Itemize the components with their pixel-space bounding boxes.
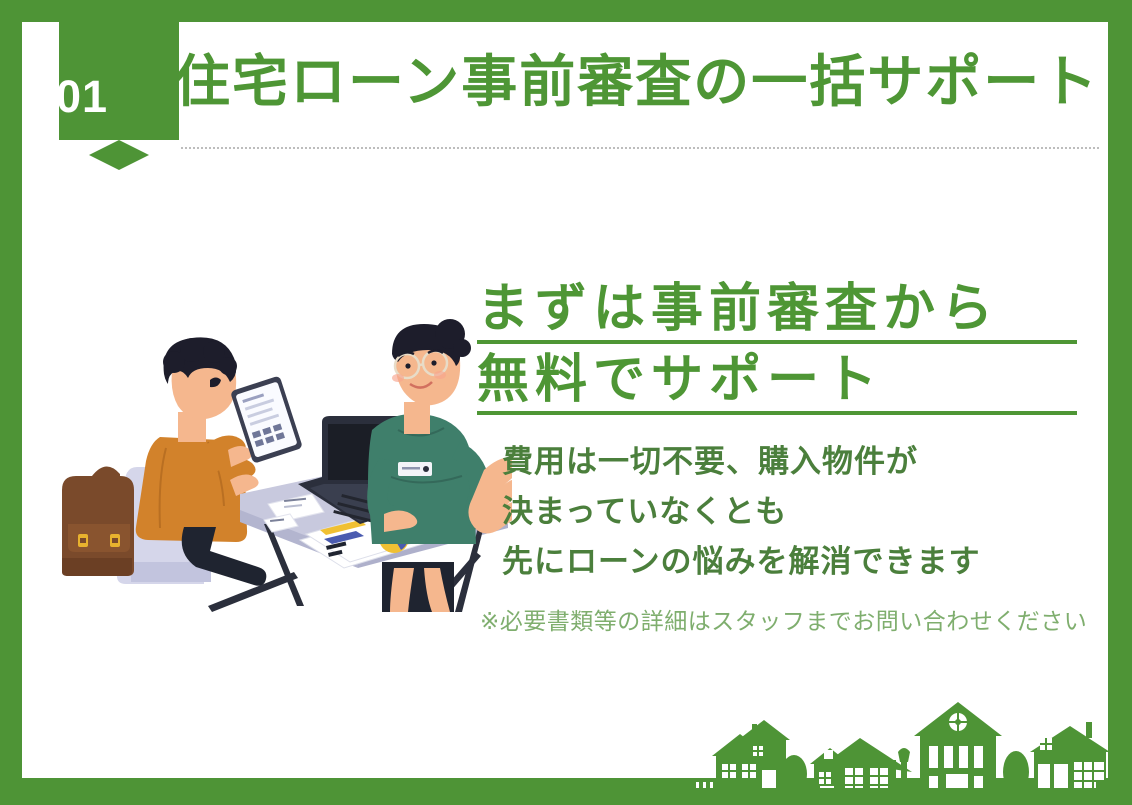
body-line-2: 決まっていなくとも (502, 487, 1082, 537)
bottom-ground-bar (22, 788, 1108, 800)
loan-consultation-illustration (32, 262, 512, 612)
page-title: 住宅ローン事前審査の一括サポート (174, 50, 1094, 114)
headline-line-1: まずは事前審査から (477, 280, 1077, 344)
header-dotted-divider (69, 147, 1099, 149)
house-row-silhouette (682, 694, 1108, 800)
section-number: 01 (22, 74, 142, 119)
slide-inner-panel: 01 住宅ローン事前審査の一括サポート (22, 22, 1108, 778)
ribbon-notch (59, 140, 179, 170)
body-line-1: 費用は一切不要、購入物件が (502, 437, 1082, 487)
footnote: ※必要書類等の詳細はスタッフまでお問い合わせください (480, 602, 1087, 636)
headline-line-2: 無料でサポート (477, 351, 1077, 415)
body-copy-block: 費用は一切不要、購入物件が 決まっていなくとも 先にローンの悩みを解消できます (502, 437, 1082, 588)
body-line-3: 先にローンの悩みを解消できます (502, 537, 1082, 587)
slide-root: 01 住宅ローン事前審査の一括サポート (0, 0, 1132, 800)
headline-block: まずは事前審査から 無料でサポート (477, 280, 1077, 415)
